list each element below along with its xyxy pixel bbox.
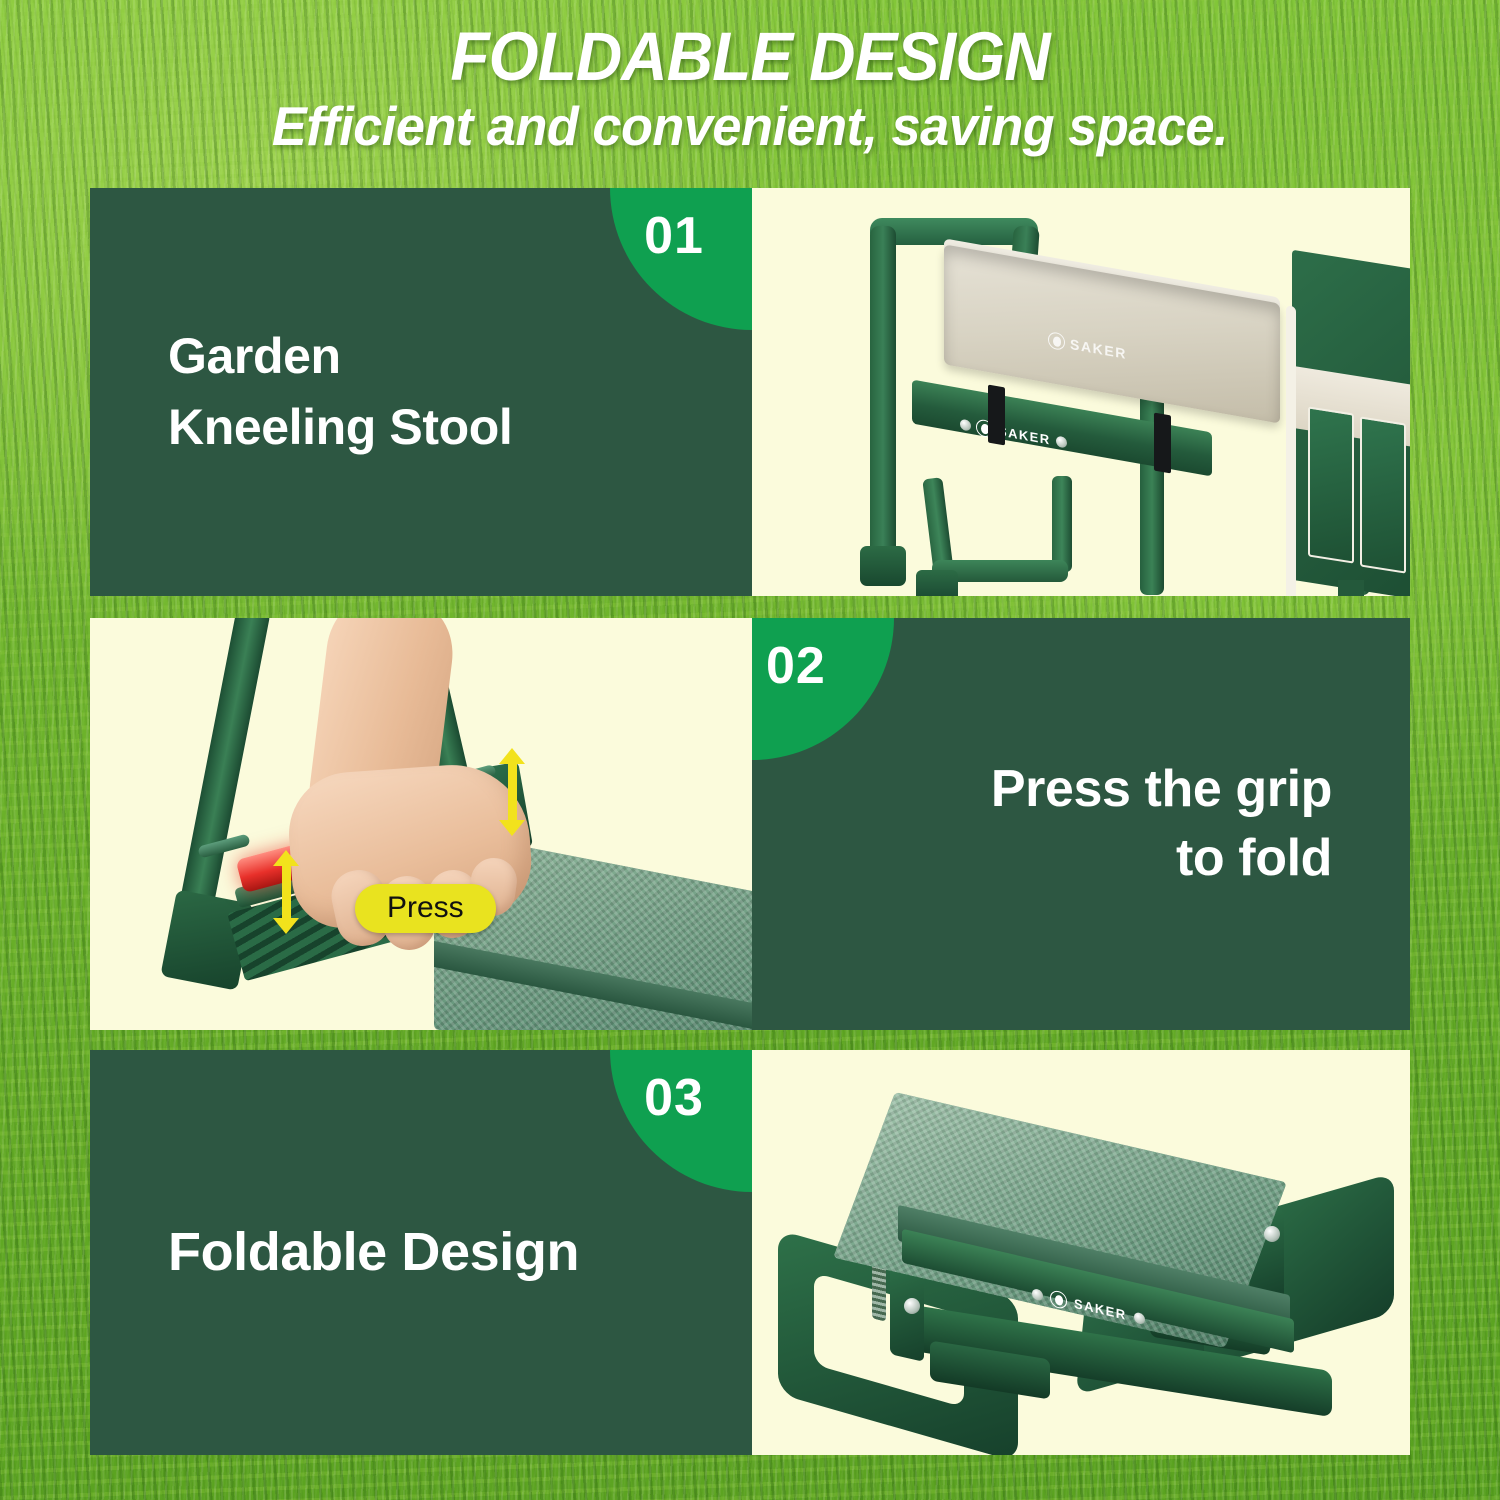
- bolt-icon: [1264, 1226, 1280, 1242]
- tool-pouch-pocket: [1360, 416, 1406, 573]
- product-photo-open-stool: SAKER SAKER: [752, 188, 1410, 596]
- press-callout-label: Press: [355, 884, 496, 933]
- page-title: FOLDABLE DESIGN: [53, 22, 1448, 92]
- product-photo-folded-stool: SAKER: [752, 1050, 1410, 1455]
- step-1-heading: Garden Kneeling Stool: [90, 321, 752, 463]
- rivet-icon: [1134, 1311, 1145, 1325]
- step-2-number-badge: 02: [752, 618, 894, 760]
- step-1-text-panel: 01 Garden Kneeling Stool: [90, 188, 752, 596]
- up-down-arrow-icon: [504, 748, 520, 836]
- step-2-text-panel: 02 Press the grip to fold: [752, 618, 1410, 1030]
- bolt-icon: [904, 1298, 920, 1314]
- step-2-heading-line-1: Press the grip: [812, 755, 1332, 824]
- step-3-number-badge: 03: [610, 1050, 752, 1192]
- step-2-photo-panel: [90, 618, 752, 1030]
- tool-pouch-pocket: [1308, 406, 1354, 563]
- step-3-heading-line-1: Foldable Design: [168, 1214, 692, 1291]
- step-row-2: 02 Press the grip to fold: [90, 618, 1410, 1030]
- rivet-icon: [960, 419, 971, 432]
- cushion-strap: [988, 385, 1005, 446]
- step-1-heading-line-2: Kneeling Stool: [168, 392, 692, 463]
- up-down-arrow-icon: [278, 850, 294, 934]
- step-3-photo-panel: SAKER: [752, 1050, 1410, 1455]
- step-3-heading: Foldable Design: [90, 1214, 752, 1291]
- saker-falcon-icon: [1050, 1289, 1067, 1310]
- step-row-3: 03 Foldable Design SAKER: [90, 1050, 1410, 1455]
- cushion-strap: [1154, 413, 1171, 474]
- header: FOLDABLE DESIGN Efficient and convenient…: [0, 0, 1500, 185]
- stool-handle-foot: [860, 546, 906, 586]
- page-subtitle: Efficient and convenient, saving space.: [38, 98, 1463, 156]
- step-1-number-badge: 01: [610, 188, 752, 330]
- step-2-heading: Press the grip to fold: [752, 755, 1410, 892]
- step-row-1: 01 Garden Kneeling Stool SAKER: [90, 188, 1410, 596]
- step-1-heading-line-1: Garden: [168, 321, 692, 392]
- rivet-icon: [1056, 435, 1067, 448]
- step-2-heading-line-2: to fold: [812, 824, 1332, 893]
- step-1-number: 01: [644, 206, 704, 266]
- stool-rear-foot: [1338, 580, 1364, 596]
- rivet-icon: [1032, 1288, 1043, 1302]
- step-2-number: 02: [766, 636, 826, 696]
- product-photo-press-grip: [90, 618, 752, 1030]
- stool-handle-left-post: [870, 226, 896, 556]
- tool-pouch-trim: [1286, 305, 1296, 596]
- step-1-photo-panel: SAKER SAKER: [752, 188, 1410, 596]
- step-3-number: 03: [644, 1068, 704, 1128]
- step-3-text-panel: 03 Foldable Design: [90, 1050, 752, 1455]
- stool-fold-strut-right: [1052, 476, 1072, 572]
- stool-fold-foot: [916, 570, 958, 596]
- saker-falcon-icon: [1048, 331, 1065, 351]
